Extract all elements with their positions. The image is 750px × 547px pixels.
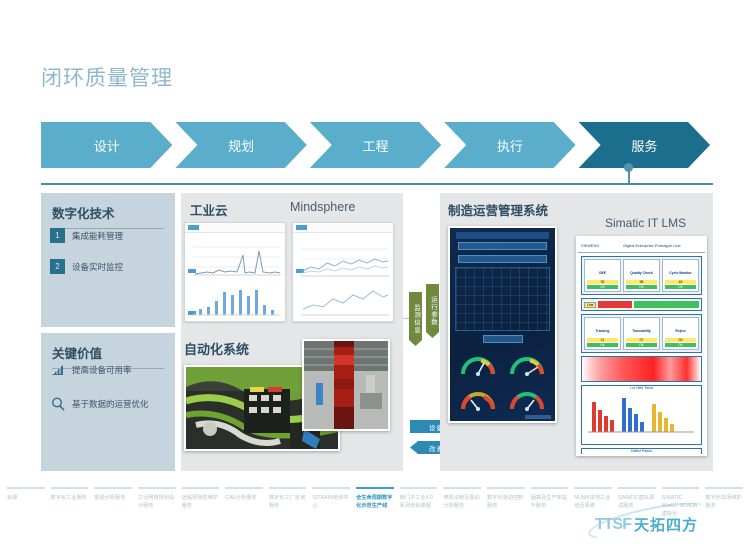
kpi-value: 07 — [626, 338, 657, 342]
gauge-dial — [507, 383, 547, 417]
item-label: 电机诊断及振动分析服务 — [443, 494, 481, 510]
simatic-it-lms-title: Simatic IT LMS — [605, 216, 686, 230]
operations-monitor-dashboard[interactable] — [448, 226, 557, 423]
alarm-label: Line — [584, 302, 596, 308]
list-item[interactable]: 2 设备实时监控 — [50, 259, 170, 274]
andon-tower-photo — [302, 339, 390, 431]
item-rule — [182, 487, 220, 489]
footer-item-9[interactable]: 西门子工业4.0系列培训课程 — [397, 487, 441, 518]
kpi-status: OK — [665, 343, 696, 347]
process-step-design[interactable]: 设计 — [41, 122, 172, 168]
kpi-tile: Cycle Monitor 45 OK — [662, 259, 699, 292]
footer-item-5[interactable]: CAE分析服务 — [222, 487, 266, 518]
dashboard-trend-grid — [455, 267, 550, 331]
card-toolbar — [185, 223, 285, 233]
footer-item-2[interactable]: 能源分析服务 — [91, 487, 135, 518]
dashboard-section-label — [483, 335, 523, 343]
watermark-logo: TTSF 天拓四方 — [595, 514, 698, 535]
item-rule — [531, 487, 569, 489]
item-label: 数字化现场维护服务 — [705, 494, 743, 510]
process-step-label: 工程 — [363, 136, 389, 155]
item-label: 数字化驱动控制服务 — [487, 494, 525, 510]
card-toolbar — [293, 223, 393, 233]
item-label: 设备实时监控 — [72, 261, 123, 273]
kpi-value: 03 — [665, 338, 696, 342]
bar-chart-icon — [50, 362, 66, 378]
chart-graphics — [582, 453, 699, 456]
kpi-tile: Traceability 07 OK — [623, 317, 660, 350]
item-label: 数字化工厂咨询服务 — [269, 494, 307, 510]
item-label: SITRAIN培训中心 — [312, 494, 350, 510]
kpi-title: OEE — [599, 271, 606, 275]
card-logo-chip — [296, 225, 307, 230]
list-item[interactable]: 提高设备可用率 — [50, 362, 172, 378]
lms-process-heatmap — [581, 356, 702, 382]
process-step-execution[interactable]: 执行 — [444, 122, 575, 168]
item-label: 数字化工业服务 — [51, 494, 89, 502]
item-label: 目录 — [7, 494, 45, 502]
footer-item-10[interactable]: 电机诊断及振动分析服务 — [440, 487, 484, 518]
footer-item-1[interactable]: 数字化工业服务 — [48, 487, 92, 518]
item-rule — [574, 487, 612, 489]
footer-item-6[interactable]: 数字化工厂咨询服务 — [266, 487, 310, 518]
kpi-title: Cycle Monitor — [669, 271, 691, 275]
kpi-status: OK — [587, 285, 618, 289]
item-label: CAE分析服务 — [225, 494, 263, 502]
kpi-value: 98 — [626, 280, 657, 284]
gauge-dial — [458, 383, 498, 417]
energy-bar-card[interactable] — [292, 222, 394, 322]
kpi-title: Traceability — [632, 329, 651, 333]
item-rule — [225, 487, 263, 489]
item-label: 能源分析服务 — [94, 494, 132, 502]
alarm-red-segment — [598, 301, 632, 308]
card-logo-chip — [188, 225, 199, 230]
dashboard-footer-stamp — [525, 415, 551, 419]
item-rule — [312, 487, 350, 489]
digital-technology-list: 1 集成能耗管理 2 设备实时监控 — [50, 228, 170, 290]
process-step-label: 执行 — [497, 136, 523, 155]
footer-item-8-active[interactable]: 全生命周期数字化示范生产线 — [353, 487, 397, 518]
mindsphere-title: Mindsphere — [290, 200, 355, 214]
item-label: 全生命周期数字化示范生产线 — [356, 494, 394, 510]
item-number-badge: 2 — [50, 259, 65, 274]
item-label: 西门子工业4.0系列培训课程 — [400, 494, 438, 510]
process-chevron-bar: 设计 规划 工程 执行 服务 — [41, 122, 713, 168]
item-label: 远程预测性维护服务 — [182, 494, 220, 510]
magnifier-icon — [50, 396, 66, 412]
energy-trend-card[interactable] — [184, 222, 286, 322]
lms-yield-chart: Lot Yield Trend — [581, 385, 702, 445]
title-text: 工业云 — [190, 204, 228, 218]
kpi-status: OK — [626, 343, 657, 347]
vertical-tag-monitoring-info[interactable]: 监测信息 — [409, 292, 422, 346]
kpi-tile: OEE 92 OK — [584, 259, 621, 292]
dashboard-header-bar — [456, 232, 549, 239]
lms-header-title: Digital Enterprise Prototype Line — [623, 243, 680, 248]
footer-item-11[interactable]: 数字化驱动控制服务 — [484, 487, 528, 518]
card-chart-graphics — [293, 233, 393, 321]
gauge-dial — [507, 348, 547, 382]
process-step-planning[interactable]: 规划 — [175, 122, 306, 168]
kpi-status: OK — [665, 285, 696, 289]
kpi-title: Quality Check — [630, 271, 653, 275]
process-step-label: 规划 — [228, 136, 254, 155]
item-label: 提高设备可用率 — [72, 364, 132, 376]
kpi-title: Tracking — [596, 329, 610, 333]
chart-graphics — [582, 390, 699, 438]
item-number-badge: 1 — [50, 228, 65, 243]
page-title: 闭环质量管理 — [41, 62, 173, 92]
process-step-service[interactable]: 服务 — [579, 122, 710, 168]
kpi-tile: Reject 03 OK — [662, 317, 699, 350]
kpi-value: 21 — [587, 338, 618, 342]
kpi-tile: Quality Check 98 OK — [623, 259, 660, 292]
kpi-status: OK — [587, 343, 618, 347]
active-step-marker-stem — [628, 166, 630, 184]
item-rule — [400, 487, 438, 489]
panel-title: 数字化技术 — [52, 207, 115, 221]
automation-system-title: 自动化系统 — [184, 339, 249, 358]
panel-title: 关键价值 — [52, 347, 102, 361]
item-rule — [487, 487, 525, 489]
slide-root: 闭环质量管理 设计 规划 工程 执行 服务 数字化技术 1 集成能耗管理 2 设… — [0, 0, 750, 547]
key-value-list: 提高设备可用率 基于数据的运营优化 — [50, 362, 172, 430]
vertical-tag-runtime-params[interactable]: 运行参数 — [426, 284, 439, 338]
lms-kpi-row-1: OEE 92 OK Quality Check 98 OK Cycle Moni… — [581, 256, 702, 295]
footer-item-3[interactable]: 工业网络规划设计服务 — [135, 487, 179, 518]
footer-item-0[interactable]: 目录 — [4, 487, 48, 518]
item-rule — [443, 487, 481, 489]
lms-header: SIEMENS Digital Enterprise Prototype Lin… — [578, 238, 705, 253]
industrial-cloud-title: 工业云 — [190, 200, 228, 224]
kpi-tile: Tracking 21 OK — [584, 317, 621, 350]
kpi-value: 92 — [587, 280, 618, 284]
item-label: NUMA本地工业低压系统 — [574, 494, 612, 510]
simatic-lms-screen[interactable]: SIEMENS Digital Enterprise Prototype Lin… — [576, 236, 707, 456]
kpi-status: OK — [626, 285, 657, 289]
kpi-value: 45 — [665, 280, 696, 284]
item-label: 固高及生产率提升服务 — [531, 494, 569, 510]
process-step-label: 服务 — [631, 136, 657, 155]
item-rule — [94, 487, 132, 489]
dashboard-gauge-group — [450, 346, 555, 420]
item-rule — [705, 487, 743, 489]
section-divider — [41, 183, 713, 185]
list-item[interactable]: 基于数据的运营优化 — [50, 396, 172, 412]
item-rule — [618, 487, 656, 489]
cloud-chart-cards — [184, 222, 394, 322]
lms-alarm-bar: Line — [581, 298, 702, 311]
item-rule — [269, 487, 307, 489]
lms-kpi-row-2: Tracking 21 OK Traceability 07 OK Reject… — [581, 314, 702, 353]
dashboard-kpi-band — [458, 242, 547, 250]
item-label: 集成能耗管理 — [72, 230, 123, 242]
footer-item-16[interactable]: 数字化现场维护服务 — [702, 487, 746, 518]
lms-pareto-chart: Defect Pareto — [581, 448, 702, 456]
item-rule — [662, 487, 700, 489]
card-chart-graphics — [185, 233, 285, 321]
item-rule — [51, 487, 89, 489]
item-label: 基于数据的运营优化 — [72, 398, 149, 410]
process-step-engineering[interactable]: 工程 — [310, 122, 441, 168]
alarm-green-segment — [634, 301, 699, 308]
kpi-title: Reject — [675, 329, 685, 333]
item-rule — [7, 487, 45, 489]
footer-item-7[interactable]: SITRAIN培训中心 — [309, 487, 353, 518]
dashboard-kpi-band — [458, 255, 547, 263]
item-rule — [356, 487, 394, 489]
lms-vendor-logo: SIEMENS — [581, 243, 599, 248]
process-step-label: 设计 — [94, 136, 120, 155]
item-rule — [138, 487, 176, 489]
list-item[interactable]: 1 集成能耗管理 — [50, 228, 170, 243]
item-label: 工业网络规划设计服务 — [138, 494, 176, 510]
footer-item-4[interactable]: 远程预测性维护服务 — [179, 487, 223, 518]
footer-item-12[interactable]: 固高及生产率提升服务 — [528, 487, 572, 518]
mom-system-title: 制造运营管理系统 — [448, 200, 548, 219]
gauge-dial — [458, 348, 498, 382]
